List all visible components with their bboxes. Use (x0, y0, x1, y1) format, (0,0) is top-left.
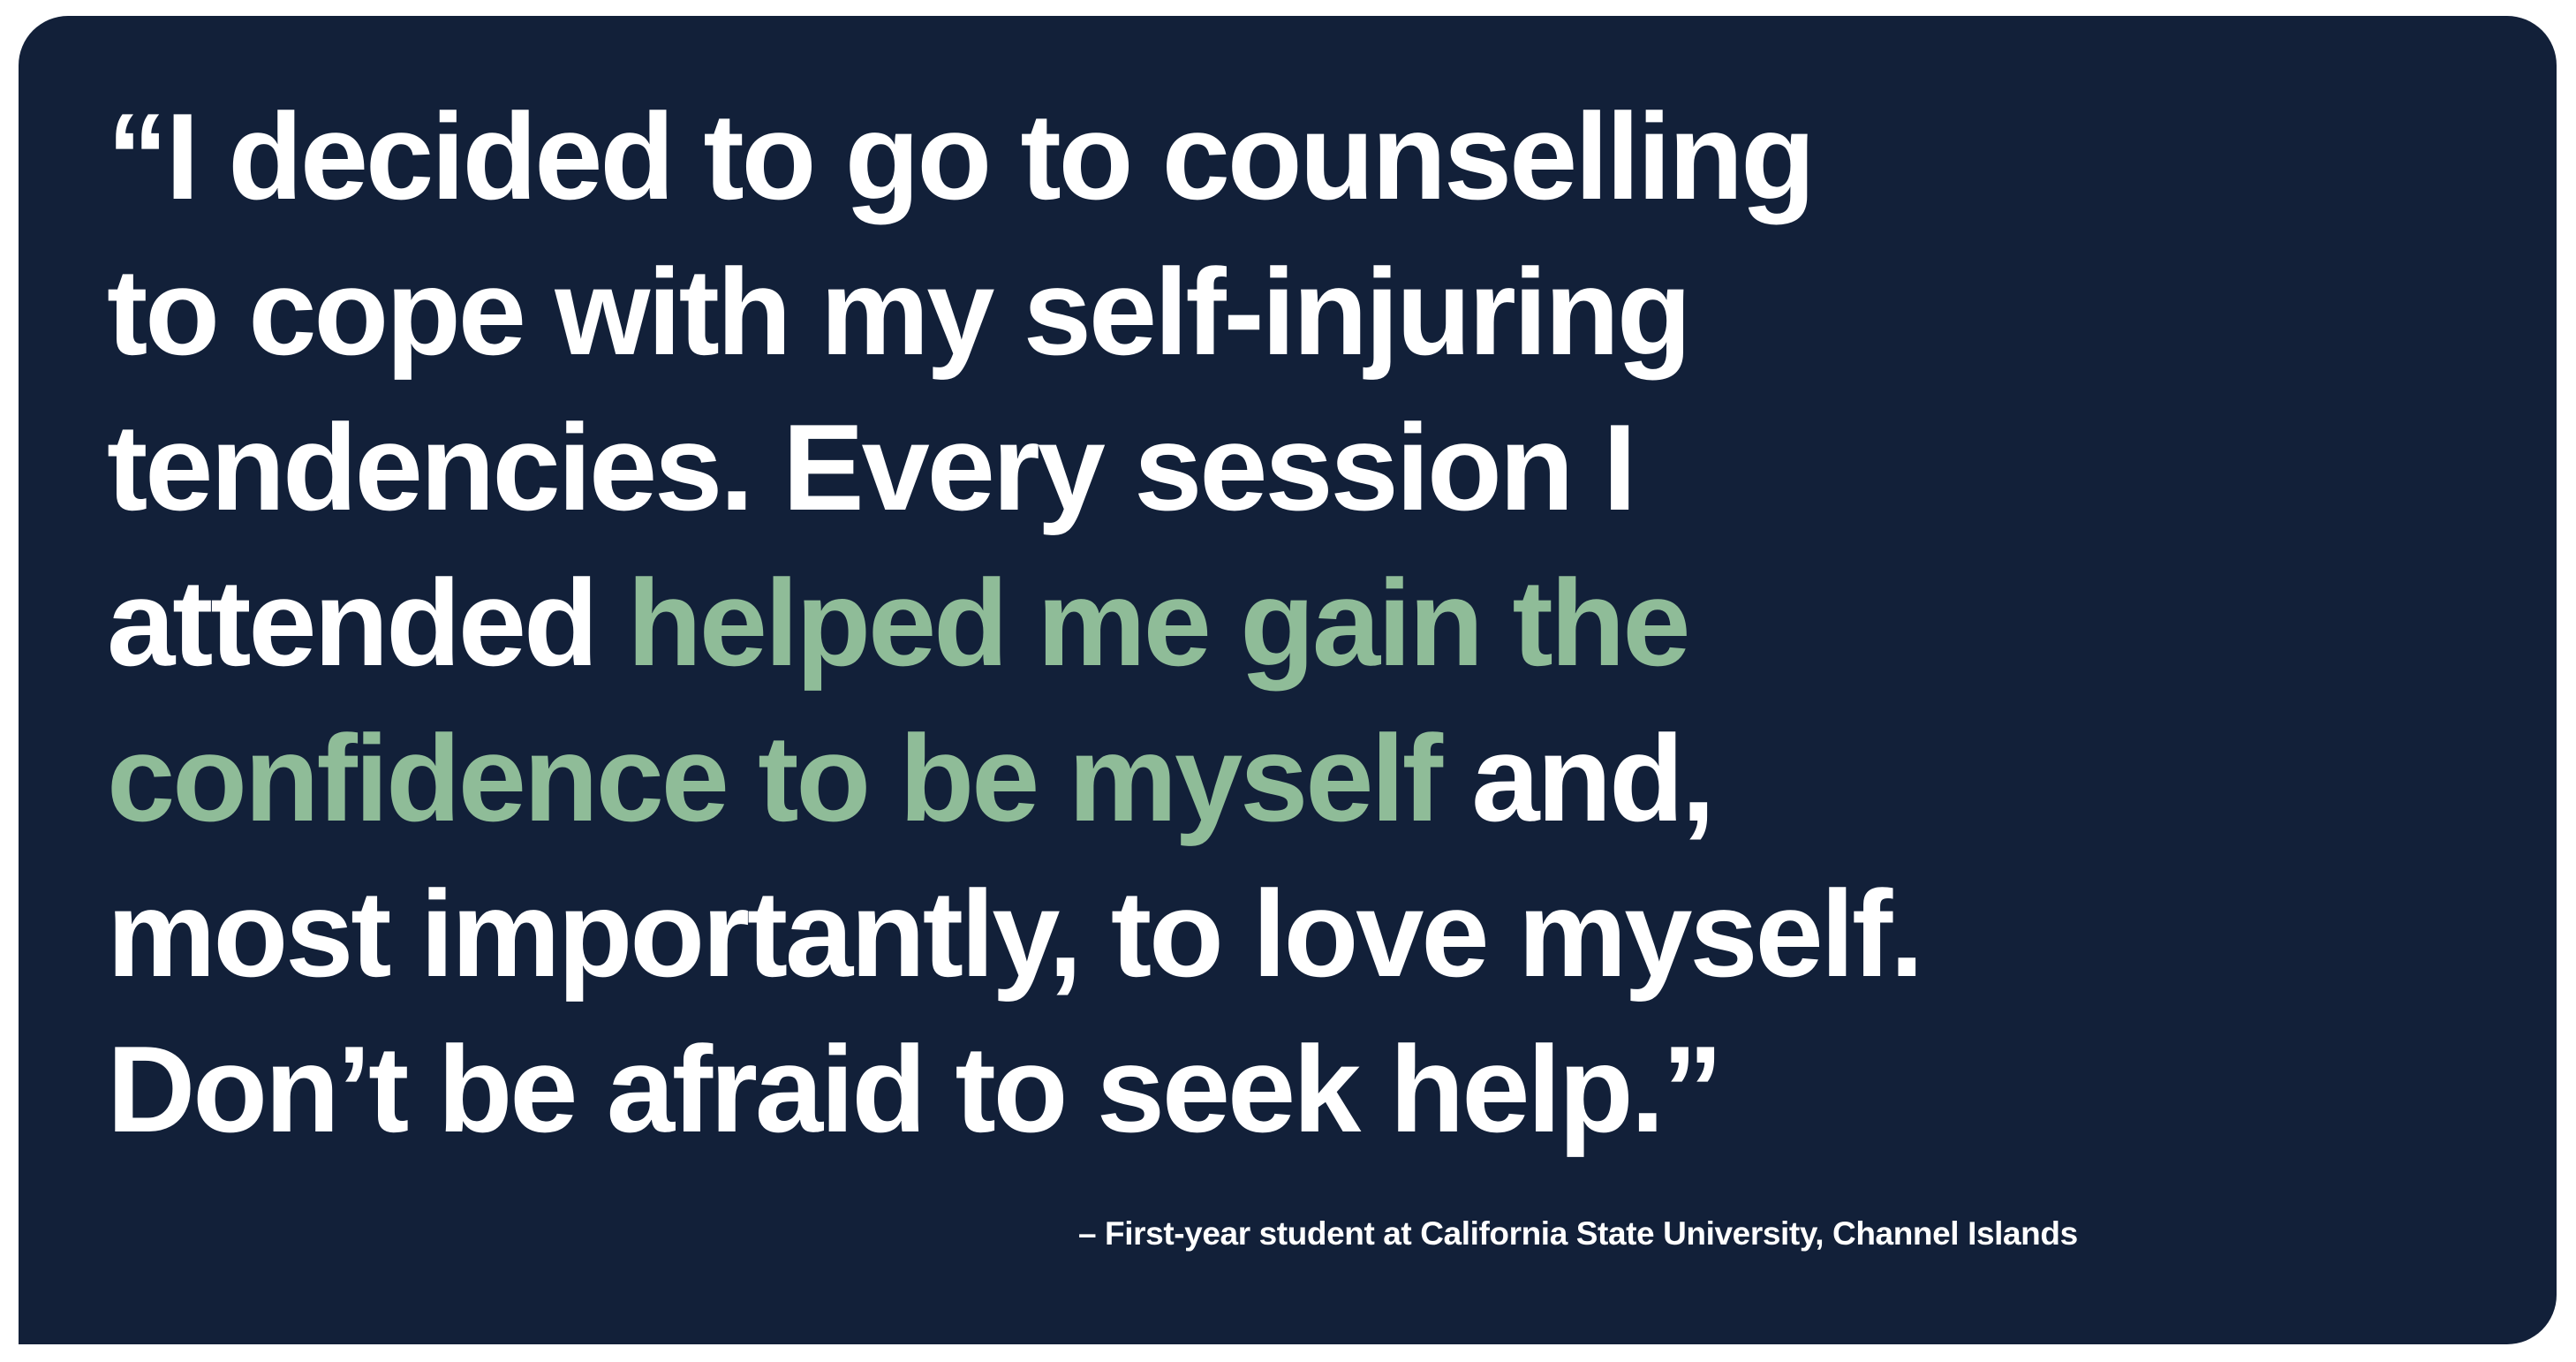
quote-segment: Don’t be afraid to seek help.” (107, 1021, 1720, 1158)
quote-segment: and, (1440, 710, 1712, 847)
quote-line: most importantly, to love myself. (107, 857, 2509, 1012)
quote-segment: “I decided to go to counselling (107, 88, 1813, 225)
quote-text-block: “I decided to go to counselling to cope … (107, 79, 2509, 1168)
quote-line: Don’t be afraid to seek help.” (107, 1012, 2509, 1168)
quote-line: attended helped me gain the (107, 546, 2509, 701)
quote-segment-highlighted: helped me gain the (627, 555, 1688, 692)
quote-attribution: – First-year student at California State… (1078, 1215, 2078, 1252)
quote-segment: attended (107, 555, 627, 692)
quote-line: tendencies. Every session I (107, 390, 2509, 546)
quote-segment-highlighted: confidence to be myself (107, 710, 1440, 847)
quote-segment: to cope with my self-injuring (107, 244, 1689, 381)
quote-segment: most importantly, to love myself. (107, 866, 1921, 1003)
quote-line: confidence to be myself and, (107, 701, 2509, 857)
quote-line: to cope with my self-injuring (107, 235, 2509, 390)
screenshot-stage: “I decided to go to counselling to cope … (0, 0, 2576, 1362)
quote-line: “I decided to go to counselling (107, 79, 2509, 235)
quote-segment: tendencies. Every session I (107, 399, 1634, 536)
testimonial-quote-card: “I decided to go to counselling to cope … (19, 16, 2557, 1344)
